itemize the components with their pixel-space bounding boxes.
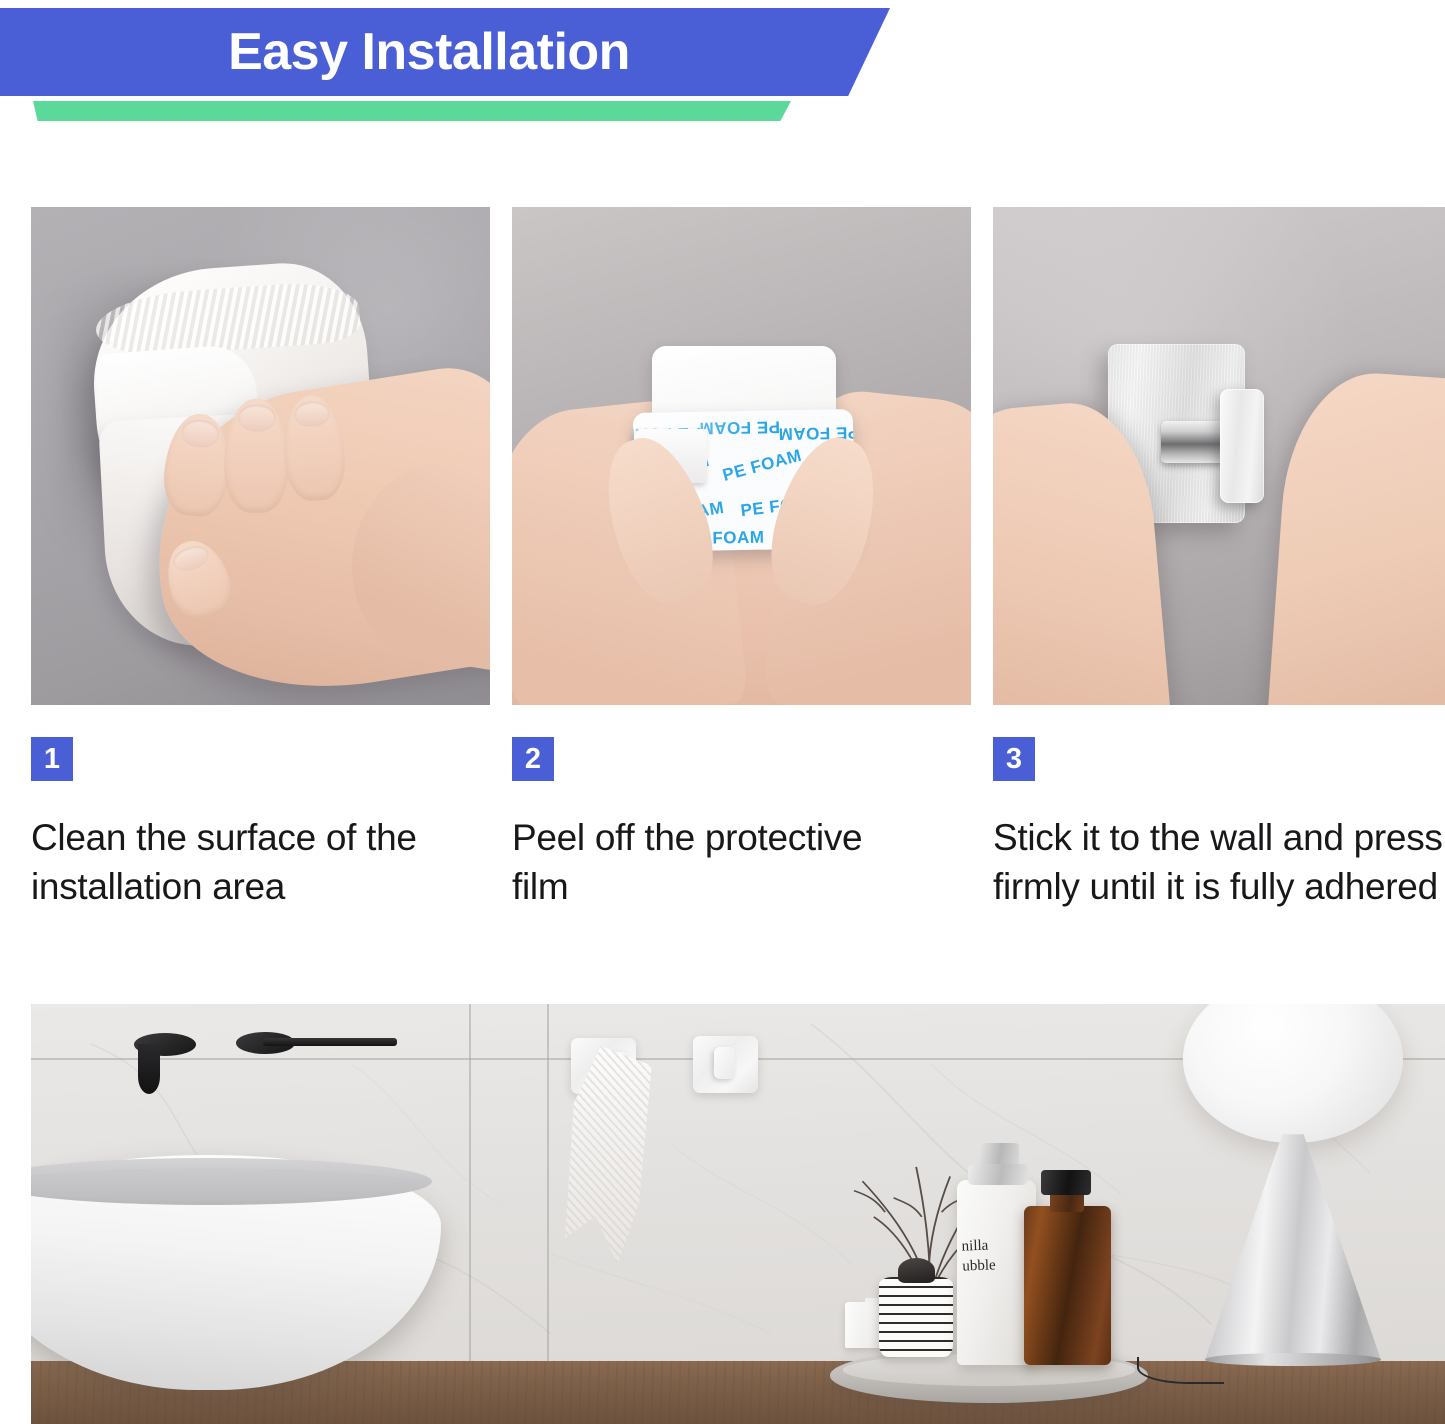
bottle-label-line-2: ubble: [962, 1255, 996, 1276]
step-3-badge: 3: [993, 737, 1035, 781]
header-banner: Easy Installation: [0, 0, 1445, 150]
step-1-caption: Clean the surface of the installation ar…: [31, 813, 490, 911]
lifestyle-photo: nilla ubble: [31, 1004, 1445, 1424]
banner-green-accent-bar: [33, 101, 791, 121]
faucet-lever-handle: [263, 1038, 397, 1046]
step-2: PE FOAM PE FOAM PE FOAM PE FOAM PE FOAM …: [512, 207, 971, 911]
step-2-caption: Peel off the protective film: [512, 813, 912, 911]
step-2-photo: PE FOAM PE FOAM PE FOAM PE FOAM PE FOAM …: [512, 207, 971, 705]
page-title: Easy Installation: [0, 8, 858, 96]
pe-foam-text: PE FOAM: [699, 416, 780, 437]
step-1: 1 Clean the surface of the installation …: [31, 207, 490, 911]
black-pump-cap: [1041, 1170, 1092, 1195]
fingernail: [238, 405, 275, 432]
amber-glass-bottle: [1024, 1206, 1112, 1366]
step-3-photo: [993, 207, 1445, 705]
installation-steps: 1 Clean the surface of the installation …: [31, 207, 1431, 911]
bottle-label: nilla ubble: [961, 1235, 996, 1277]
fingernail: [180, 419, 219, 449]
striped-vase: [879, 1277, 953, 1357]
step-3: 3 Stick it to the wall and press firmly …: [993, 207, 1445, 911]
faucet-spout: [138, 1044, 159, 1094]
sink-rim: [31, 1158, 432, 1205]
fingernail: [294, 401, 331, 428]
silver-pump-nozzle: [968, 1164, 1027, 1185]
finger-thumb: [157, 533, 239, 626]
hook-arm: [714, 1047, 735, 1079]
hook-peg: [1161, 421, 1230, 463]
step-2-badge: 2: [512, 737, 554, 781]
tile-grout-line-vertical: [469, 1004, 471, 1365]
tile-grout-line-vertical: [547, 1004, 549, 1365]
bottle-label-line-1: nilla: [961, 1235, 995, 1256]
hook-arm: [1220, 389, 1264, 504]
vase-dark-top: [898, 1258, 935, 1283]
step-3-caption: Stick it to the wall and press firmly un…: [993, 813, 1445, 911]
finger-ring: [280, 394, 347, 503]
fingernail: [170, 543, 211, 575]
lamp-base-foot: [1205, 1353, 1382, 1366]
step-1-badge: 1: [31, 737, 73, 781]
step-1-photo: [31, 207, 490, 705]
finger-middle: [224, 399, 288, 513]
wall-hook-empty: [693, 1036, 758, 1093]
